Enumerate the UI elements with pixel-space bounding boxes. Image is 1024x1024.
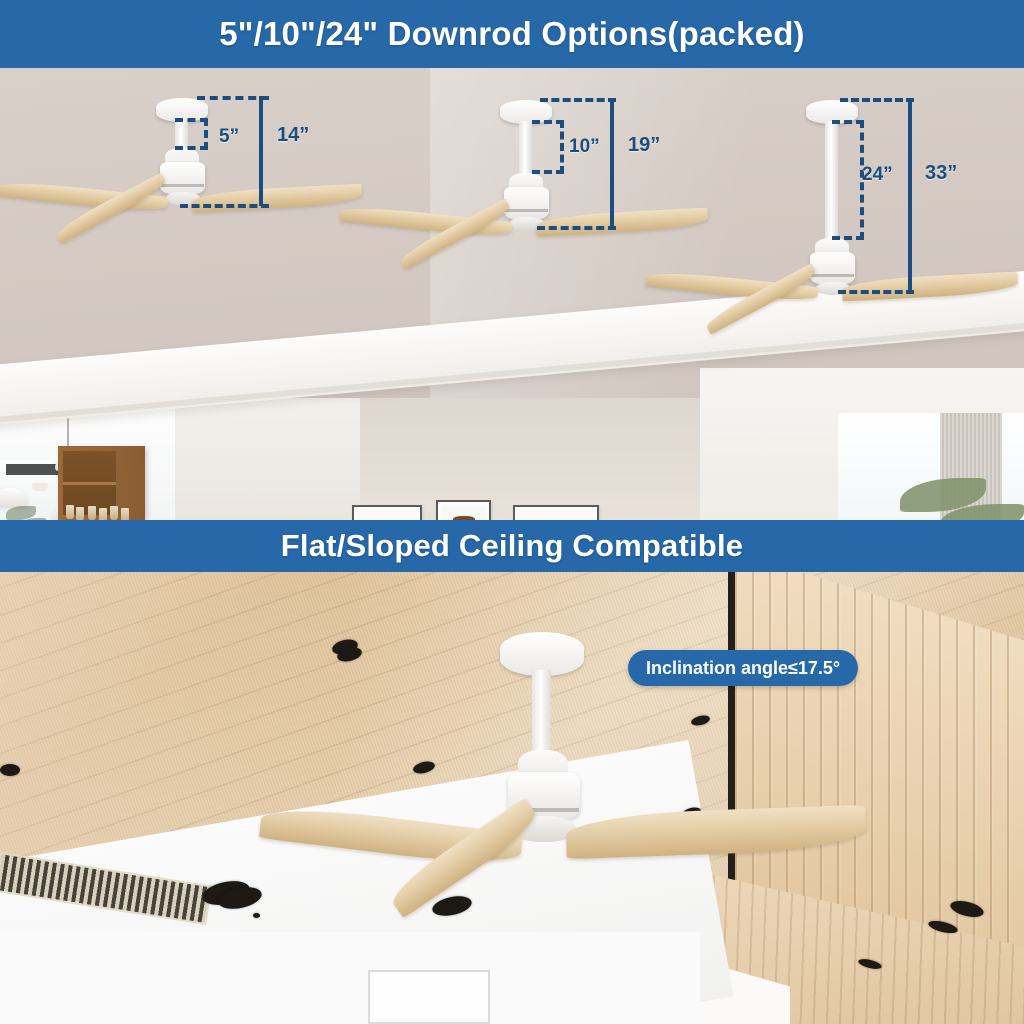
wall-panel xyxy=(368,970,490,1024)
fan-blade xyxy=(565,805,866,859)
fan-motor-band xyxy=(505,209,548,212)
dim-top-guide-10 xyxy=(540,98,616,102)
art-mat xyxy=(519,511,593,520)
cabinet-jar xyxy=(88,506,96,520)
cabinet-bowl xyxy=(32,483,48,491)
downrod-options-scene: 5” 14” 10” 19” xyxy=(0,68,1024,520)
inclination-angle-badge: Inclination angle≤17.5° xyxy=(628,650,858,686)
fan-downrod xyxy=(532,670,551,756)
fan-motor-band xyxy=(811,274,854,277)
dim-total-line-14 xyxy=(259,96,263,206)
art-frame xyxy=(513,505,599,520)
dim-bottom-guide-10 xyxy=(537,226,616,230)
dim-label-downrod-10: 10” xyxy=(569,136,600,158)
cabinet-jar xyxy=(76,507,84,520)
dim-bottom-guide-5 xyxy=(180,204,269,208)
fan-blade xyxy=(192,184,363,213)
dim-label-drop-14: 14” xyxy=(277,124,309,147)
fan-motor-band xyxy=(161,184,204,187)
recessed-light xyxy=(0,764,20,776)
fan-downrod xyxy=(519,121,532,176)
infographic-page: 5"/10"/24" Downrod Options(packed) xyxy=(0,0,1024,1024)
fan-motor-housing xyxy=(504,187,549,219)
sloped-ceiling-scene: Inclination angle≤17.5° xyxy=(0,572,1024,1024)
middle-banner-title: Flat/Sloped Ceiling Compatible xyxy=(281,528,743,564)
dim-label-downrod-24: 24” xyxy=(862,164,893,186)
dim-bracket-10 xyxy=(532,120,564,174)
dim-total-line-19 xyxy=(610,98,614,228)
cabinet-jar xyxy=(110,506,118,520)
dim-bracket-24 xyxy=(832,120,864,240)
dim-bottom-guide-24 xyxy=(838,290,914,294)
dim-label-drop-19: 19” xyxy=(628,134,660,157)
dim-top-guide-24 xyxy=(840,98,914,102)
fan-blade xyxy=(536,208,709,237)
dim-total-line-33 xyxy=(908,98,912,293)
art-mat xyxy=(358,511,416,520)
fan-blade xyxy=(842,271,1019,301)
recessed-light xyxy=(253,913,260,918)
dim-label-drop-33: 33” xyxy=(925,162,957,185)
art-frame xyxy=(352,505,422,520)
top-banner-title: 5"/10"/24" Downrod Options(packed) xyxy=(219,15,805,53)
middle-banner: Flat/Sloped Ceiling Compatible xyxy=(0,520,1024,572)
cabinet-jar xyxy=(99,508,107,520)
cabinet-shelf xyxy=(63,482,116,485)
fan-motor-housing xyxy=(160,162,205,194)
fan-motor-housing xyxy=(810,252,855,284)
fan-5-inch xyxy=(148,88,408,278)
cabinet-jar xyxy=(66,505,74,519)
top-banner: 5"/10"/24" Downrod Options(packed) xyxy=(0,0,1024,68)
dim-label-downrod-5: 5” xyxy=(219,126,239,148)
cabinet-jar xyxy=(121,508,129,520)
dim-bracket-5 xyxy=(175,118,208,150)
art-frame xyxy=(436,500,491,520)
inclination-angle-text: Inclination angle≤17.5° xyxy=(646,658,840,679)
